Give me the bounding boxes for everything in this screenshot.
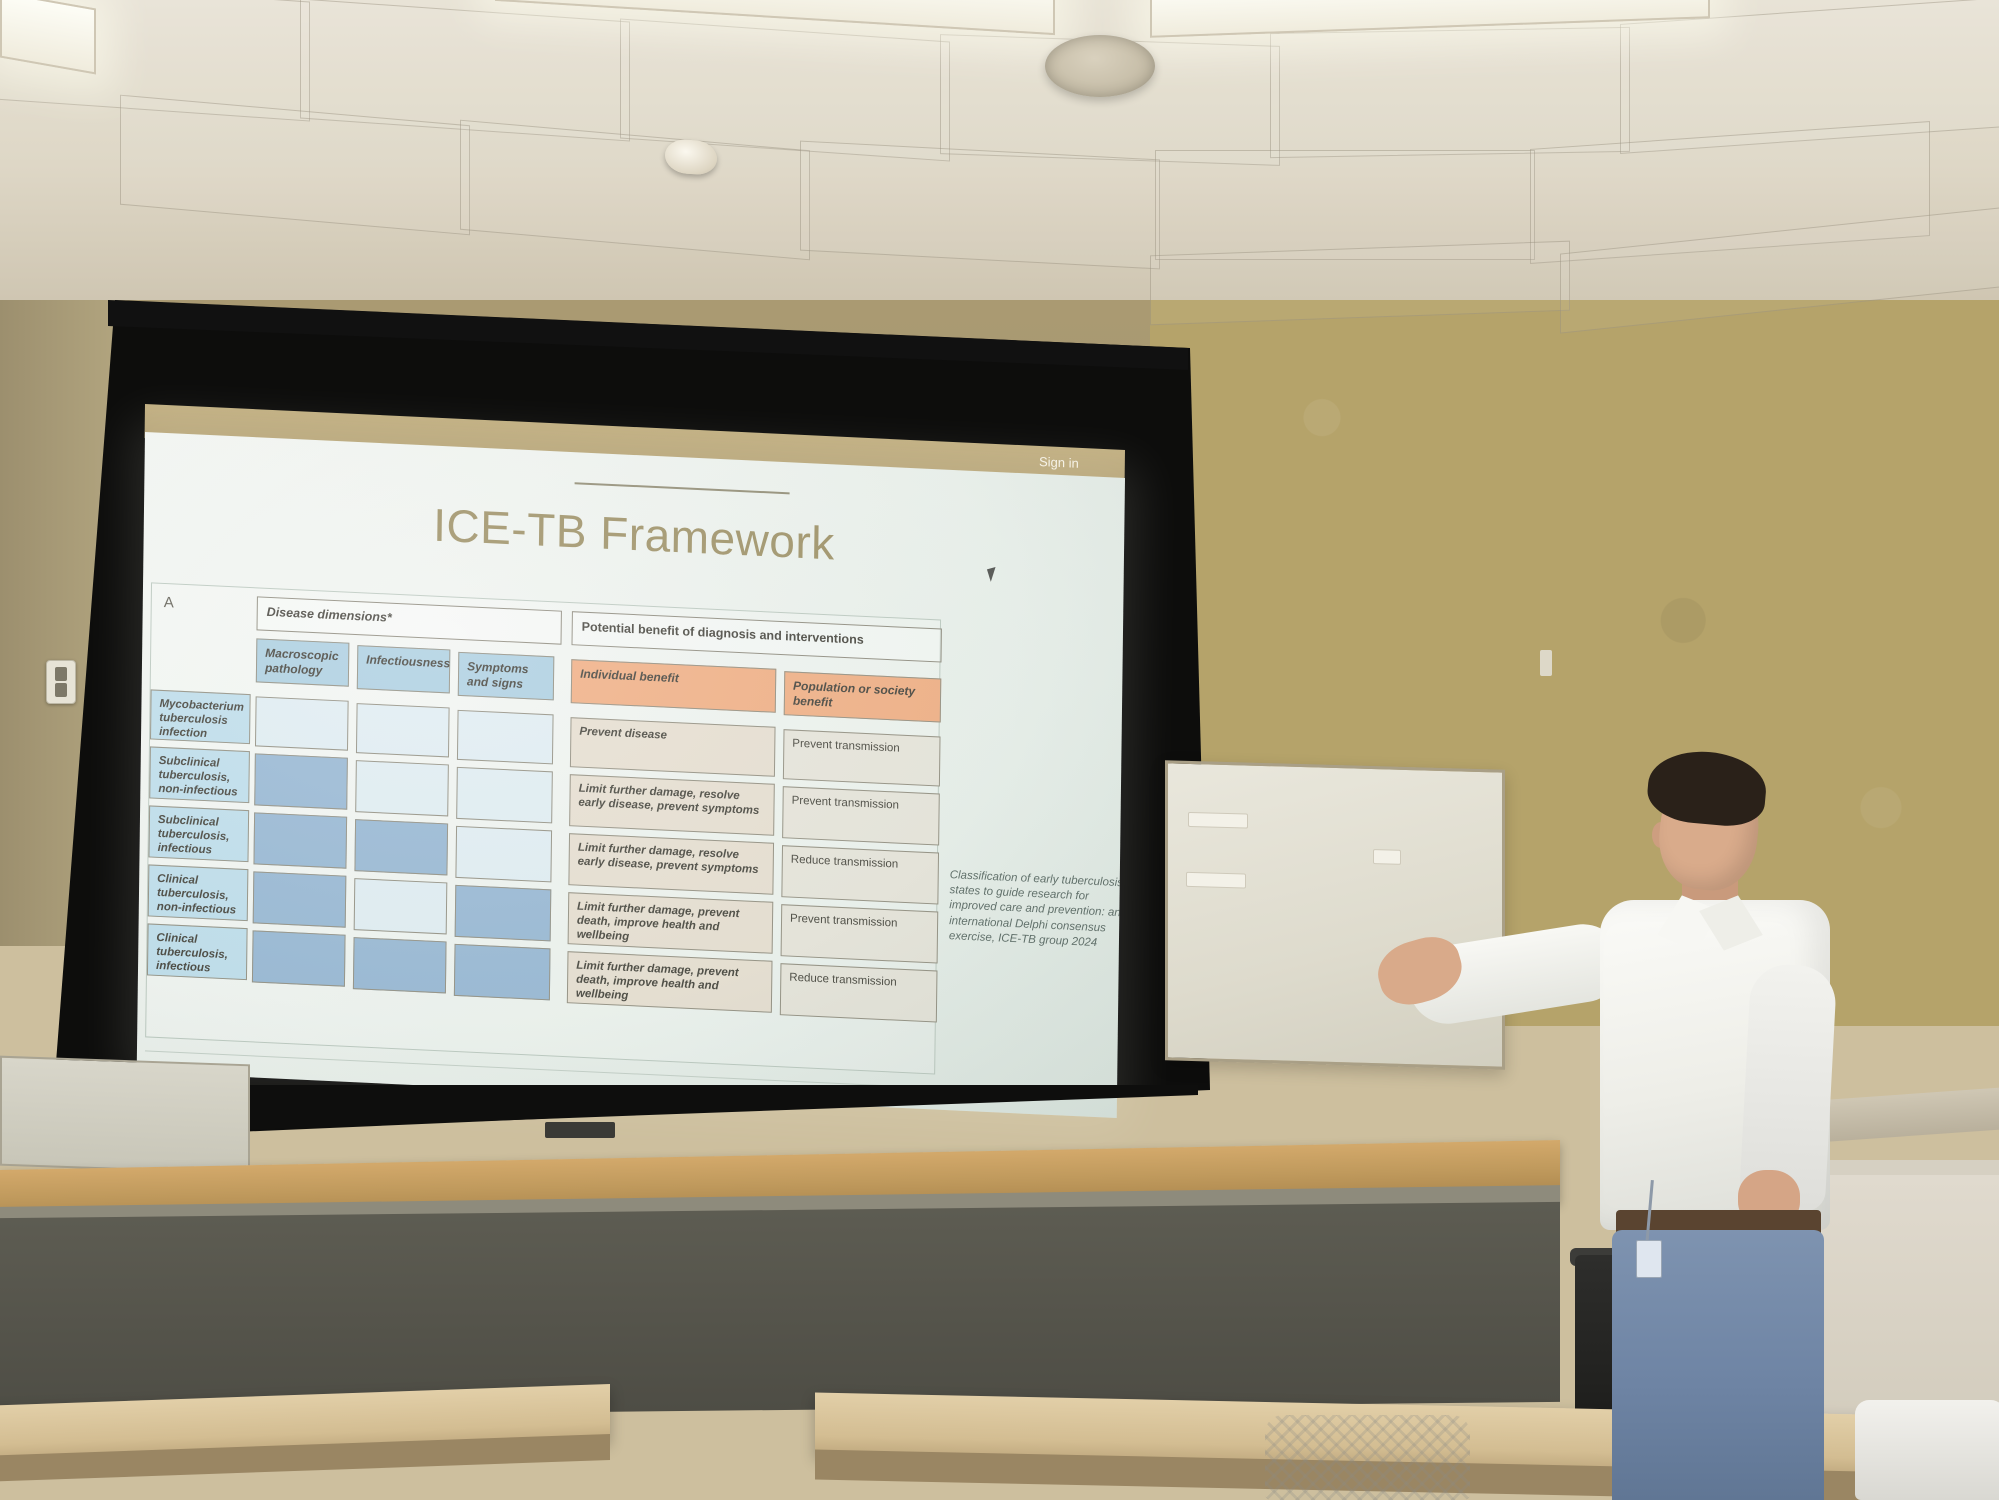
column-header-population-benefit: Population or society benefit xyxy=(784,671,942,722)
slide-title: ICE-TB Framework xyxy=(144,484,1125,584)
lower-chalkboard xyxy=(0,1202,1560,1418)
slide-citation: Classification of early tuberculosis sta… xyxy=(949,868,1125,952)
wall-sensor xyxy=(1540,650,1552,676)
cell-individual-benefit: Limit further damage, prevent death, imp… xyxy=(568,892,774,954)
wall-outlet-left xyxy=(46,660,76,704)
cell-individual-benefit: Limit further damage, resolve early dise… xyxy=(569,774,775,836)
screen-brand-logo xyxy=(545,1122,615,1138)
cell-mark xyxy=(254,753,348,809)
column-header-macroscopic-pathology: Macroscopic pathology xyxy=(256,638,350,686)
cell-mark xyxy=(252,930,346,986)
cell-individual-benefit: Limit further damage, prevent death, imp… xyxy=(567,951,773,1013)
row-label-subclinical-noninfectious: Subclinical tuberculosis, non-infectious xyxy=(149,746,250,803)
projected-slide: ICE-TB Framework A Disease dimensions* P… xyxy=(137,432,1125,1118)
cell-mark xyxy=(455,885,552,942)
presenter xyxy=(1390,740,1860,1500)
whiteboard-marker xyxy=(1188,812,1248,829)
sign-in-button[interactable]: Sign in xyxy=(1039,454,1079,471)
row-label-subclinical-infectious: Subclinical tuberculosis, infectious xyxy=(148,805,249,862)
cell-mark xyxy=(454,944,551,1001)
cell-population-benefit: Reduce transmission xyxy=(781,845,939,904)
cell-mark xyxy=(255,696,349,750)
chair-right xyxy=(1855,1400,1999,1500)
title-rule xyxy=(575,482,790,494)
column-header-infectiousness: Infectiousness xyxy=(357,645,451,693)
cell-mark xyxy=(354,819,448,875)
cell-mark xyxy=(353,937,447,993)
row-label-mtb-infection: Mycobacterium tuberculosis infection xyxy=(150,689,251,744)
cell-population-benefit: Prevent transmission xyxy=(783,729,941,786)
cell-mark xyxy=(457,710,554,765)
presenter-id-badge xyxy=(1636,1240,1662,1278)
cell-population-benefit: Prevent transmission xyxy=(782,786,940,845)
cell-population-benefit: Reduce transmission xyxy=(780,963,938,1022)
column-header-individual-benefit: Individual benefit xyxy=(571,659,777,713)
ceiling-tile xyxy=(800,141,1160,270)
group-header-potential-benefit: Potential benefit of diagnosis and inter… xyxy=(571,611,941,662)
framework-figure-panel: A Disease dimensions* Potential benefit … xyxy=(145,582,941,1074)
cell-mark xyxy=(456,767,553,824)
framework-grid: Disease dimensions* Potential benefit of… xyxy=(146,583,940,1073)
row-label-clinical-noninfectious: Clinical tuberculosis, non-infectious xyxy=(148,864,249,921)
row-label-clinical-infectious: Clinical tuberculosis, infectious xyxy=(147,923,248,980)
ceiling-speaker xyxy=(1045,35,1155,97)
cell-mark xyxy=(253,812,347,868)
left-wall-board xyxy=(0,1056,250,1175)
cell-population-benefit: Prevent transmission xyxy=(781,904,939,963)
whiteboard-marker xyxy=(1186,872,1246,889)
cell-mark xyxy=(355,760,449,816)
cell-individual-benefit: Prevent disease xyxy=(570,717,776,777)
ceiling-tile xyxy=(1270,27,1630,158)
cell-individual-benefit: Limit further damage, resolve early dise… xyxy=(568,833,774,895)
group-header-disease-dimensions: Disease dimensions* xyxy=(256,596,561,644)
cell-mark xyxy=(455,826,552,883)
ceiling-tile xyxy=(1150,241,1570,326)
cell-mark xyxy=(253,871,347,927)
lecture-hall-scene: Sign in ICE-TB Framework A Disease dimen… xyxy=(0,0,1999,1500)
cell-mark xyxy=(356,703,450,757)
column-header-symptoms-and-signs: Symptoms and signs xyxy=(458,652,555,701)
cell-mark xyxy=(354,878,448,934)
